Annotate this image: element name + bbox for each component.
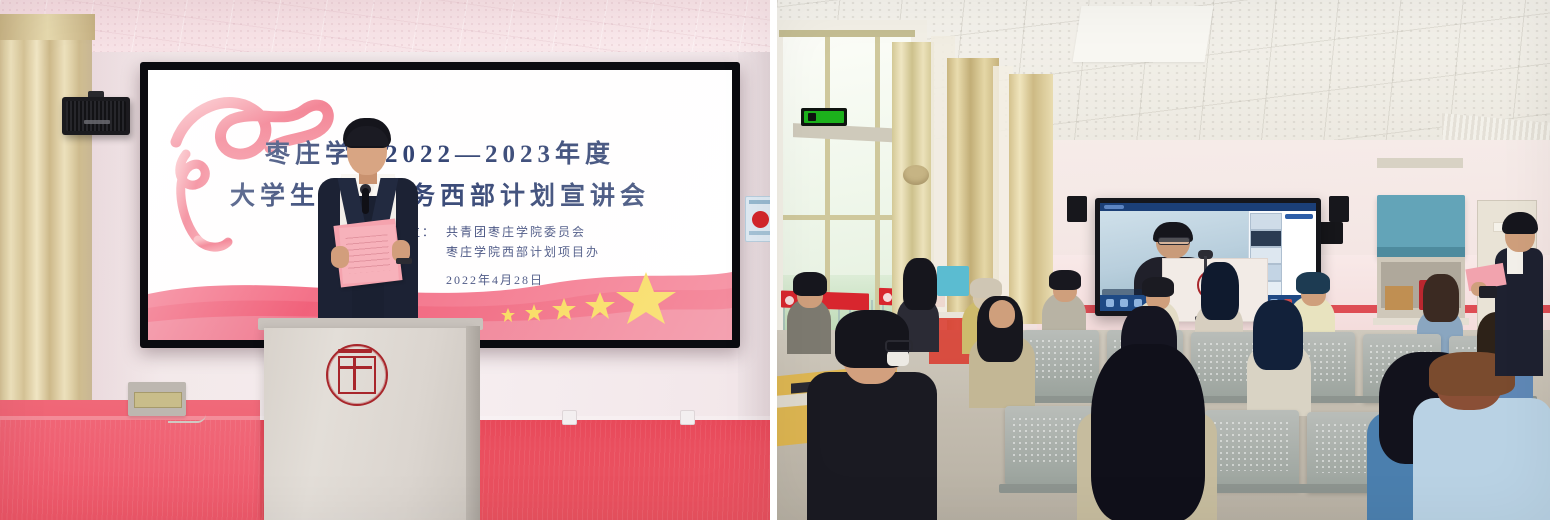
no-smoking-sign-header xyxy=(749,200,770,204)
room-speaker-right xyxy=(1329,196,1349,222)
staff-hair xyxy=(1502,212,1538,234)
right-curtain-3 xyxy=(1009,74,1053,324)
speaker-brand-label xyxy=(84,120,110,124)
microphone xyxy=(362,188,369,214)
emblem-vertical-bar xyxy=(353,356,356,390)
face-mask xyxy=(887,350,909,366)
electrical-panel-plate xyxy=(134,392,182,408)
curtain-rail xyxy=(0,14,95,40)
cardboard-box xyxy=(1385,286,1413,310)
left-photo-panel: 枣庄学院2022—2023年度 大学生志愿服务西部计划宣讲会 主办单位： 共青团… xyxy=(0,0,770,520)
presenter-hand-left xyxy=(331,246,349,268)
right-photo-panel xyxy=(777,0,1550,520)
led-screen-glare xyxy=(148,70,732,340)
curtain xyxy=(0,20,92,420)
vc-titlebar-label xyxy=(1104,205,1124,209)
vc-mute-button[interactable] xyxy=(1106,299,1114,307)
vc-participant-thumb-1[interactable] xyxy=(1250,213,1282,230)
panel-divider xyxy=(770,0,777,520)
electrical-panel-cable xyxy=(168,414,206,423)
vc-video-button[interactable] xyxy=(1120,299,1128,307)
emblem-top-bar xyxy=(338,349,372,353)
screenshot-root: 枣庄学院2022—2023年度 大学生志愿服务西部计划宣讲会 主办单位： 共青团… xyxy=(0,0,1550,520)
curtain-tie xyxy=(903,165,929,185)
room-speaker-left xyxy=(1067,196,1087,222)
vc-titlebar xyxy=(1100,203,1316,211)
vc-chat-pane-header xyxy=(1285,214,1313,219)
running-man-exit-icon xyxy=(808,113,816,121)
bench-seat[interactable] xyxy=(1205,410,1299,490)
wall-air-conditioner xyxy=(1377,158,1463,168)
lectern-side xyxy=(466,326,480,520)
wall-outlet-right xyxy=(680,410,695,425)
presenter-paper-text-lines xyxy=(346,234,391,274)
vc-participant-thumb-2[interactable] xyxy=(1250,230,1282,247)
no-smoking-sign-footer xyxy=(749,231,770,235)
staff-handheld-device xyxy=(1479,286,1497,298)
window-head-frame xyxy=(779,30,915,37)
speaker-grille xyxy=(66,101,126,131)
blue-crate xyxy=(937,266,969,296)
eyeglasses-icon xyxy=(885,340,913,352)
no-smoking-icon xyxy=(752,211,769,228)
presenter-watch xyxy=(396,258,412,264)
blue-cabinet-shadow xyxy=(1377,247,1465,257)
vc-remote-speaker-glasses xyxy=(1158,237,1190,245)
window-banner-secondary-logo-icon xyxy=(883,293,892,302)
left-right-wall xyxy=(738,52,770,442)
wall-outlet-left xyxy=(562,410,577,425)
ceiling-light-panel xyxy=(1073,6,1214,62)
emblem-inner-square xyxy=(338,356,376,394)
